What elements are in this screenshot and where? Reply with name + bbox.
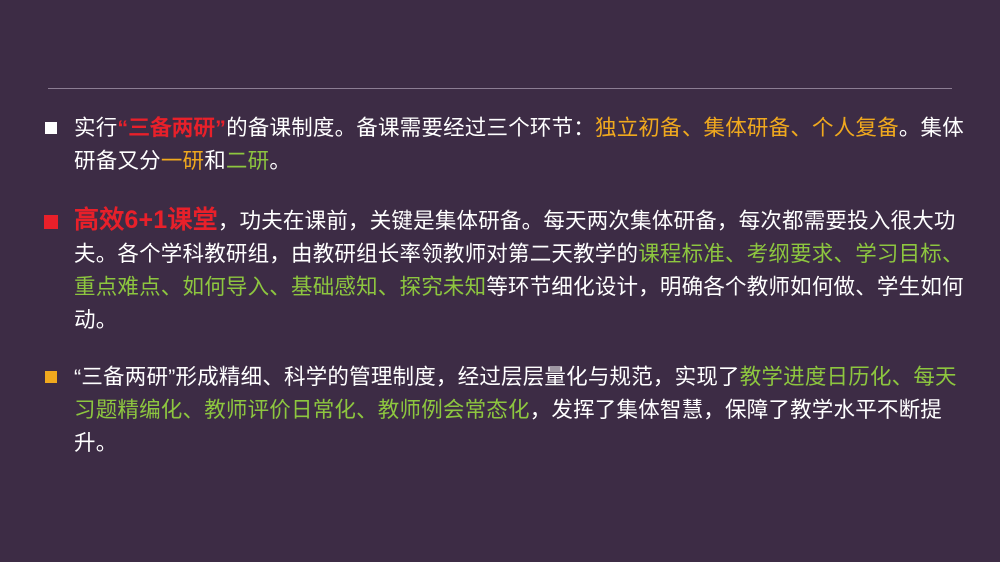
run-text: 形成精细、科学的管理制度，经过层层量化与规范，实现了	[176, 365, 740, 389]
run-text: “三备两研”	[74, 365, 176, 389]
slide-canvas: 实行“三备两研”的备课制度。备课需要经过三个环节：独立初备、集体研备、个人复备。…	[0, 0, 1000, 562]
bullet-paragraph-3: “三备两研”形成精细、科学的管理制度，经过层层量化与规范，实现了教学进度日历化、…	[42, 361, 964, 460]
run-text: 二研	[226, 149, 269, 173]
run-text: 实行	[74, 116, 117, 140]
run-text: 独立初备、集体研备、个人复备	[595, 116, 899, 140]
bullet-paragraph-1: 实行“三备两研”的备课制度。备课需要经过三个环节：独立初备、集体研备、个人复备。…	[42, 112, 964, 178]
run-text: “三备两研”	[117, 116, 226, 140]
run-text: 一研	[161, 149, 204, 173]
header-divider	[48, 88, 952, 89]
run-text: 高效6+1课堂	[74, 206, 218, 234]
square-bullet-icon-red	[44, 215, 58, 229]
square-bullet-icon-orange	[45, 371, 57, 383]
square-bullet-icon-white	[45, 122, 57, 134]
slide-body: 实行“三备两研”的备课制度。备课需要经过三个环节：独立初备、集体研备、个人复备。…	[42, 112, 964, 486]
bullet-paragraph-2: 高效6+1课堂，功夫在课前，关键是集体研备。每天两次集体研备，每次都需要投入很大…	[42, 204, 964, 337]
run-text: 的备课制度。备课需要经过三个环节：	[226, 116, 595, 140]
run-text: 和	[204, 149, 226, 173]
run-text: 。	[269, 149, 291, 173]
